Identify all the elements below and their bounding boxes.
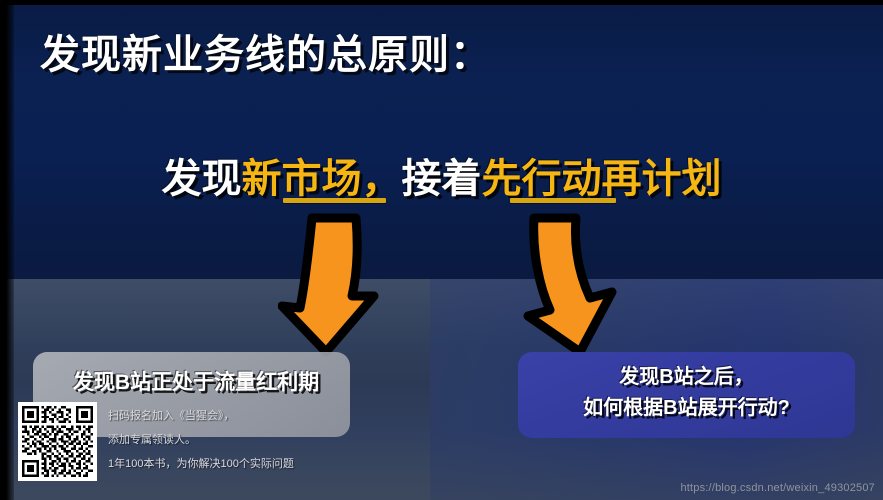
promo-line-2: 添加专属领读人。 [108,428,408,452]
card-right-label: 发现B站之后， 如何根据B站展开行动? [518,362,855,424]
left-letterbox-edge [0,0,14,500]
statement-segment-then: 接着 [402,157,482,201]
card-right-line-2: 如何根据B站展开行动? [518,393,855,424]
slide-canvas: 发现新业务线的总原则： 发现新市场，接着先行动再计划 发现B站正处于流量红利期 … [0,0,883,500]
statement-segment-discover: 发现 [162,157,242,201]
promo-text-block: 扫码报名加入《当猩会》， 添加专属领读人。 1年100本书，为你解决100个实际… [108,404,408,476]
main-statement: 发现新市场，接着先行动再计划 [0,146,883,204]
underline-new-market [283,198,386,203]
promo-line-3: 1年100本书，为你解决100个实际问题 [108,452,408,476]
promo-line-1: 扫码报名加入《当猩会》， [108,404,408,428]
statement-segment-new-market: 新市场， [242,157,402,201]
card-right-line-1: 发现B站之后， [518,362,855,393]
watermark-url: https://blog.csdn.net/weixin_49302507 [680,482,875,494]
arrow-down-right-icon [512,210,632,365]
underline-act-first [510,198,616,203]
background-sheen [0,279,883,349]
statement-segment-act-first: 先行动再计划 [482,157,722,201]
page-title: 发现新业务线的总原则： [40,22,491,80]
top-letterbox-edge [0,0,883,5]
arrow-down-left-icon [278,212,394,363]
qr-code-icon [18,402,97,481]
card-left-label: 发现B站正处于流量红利期 [36,366,356,396]
